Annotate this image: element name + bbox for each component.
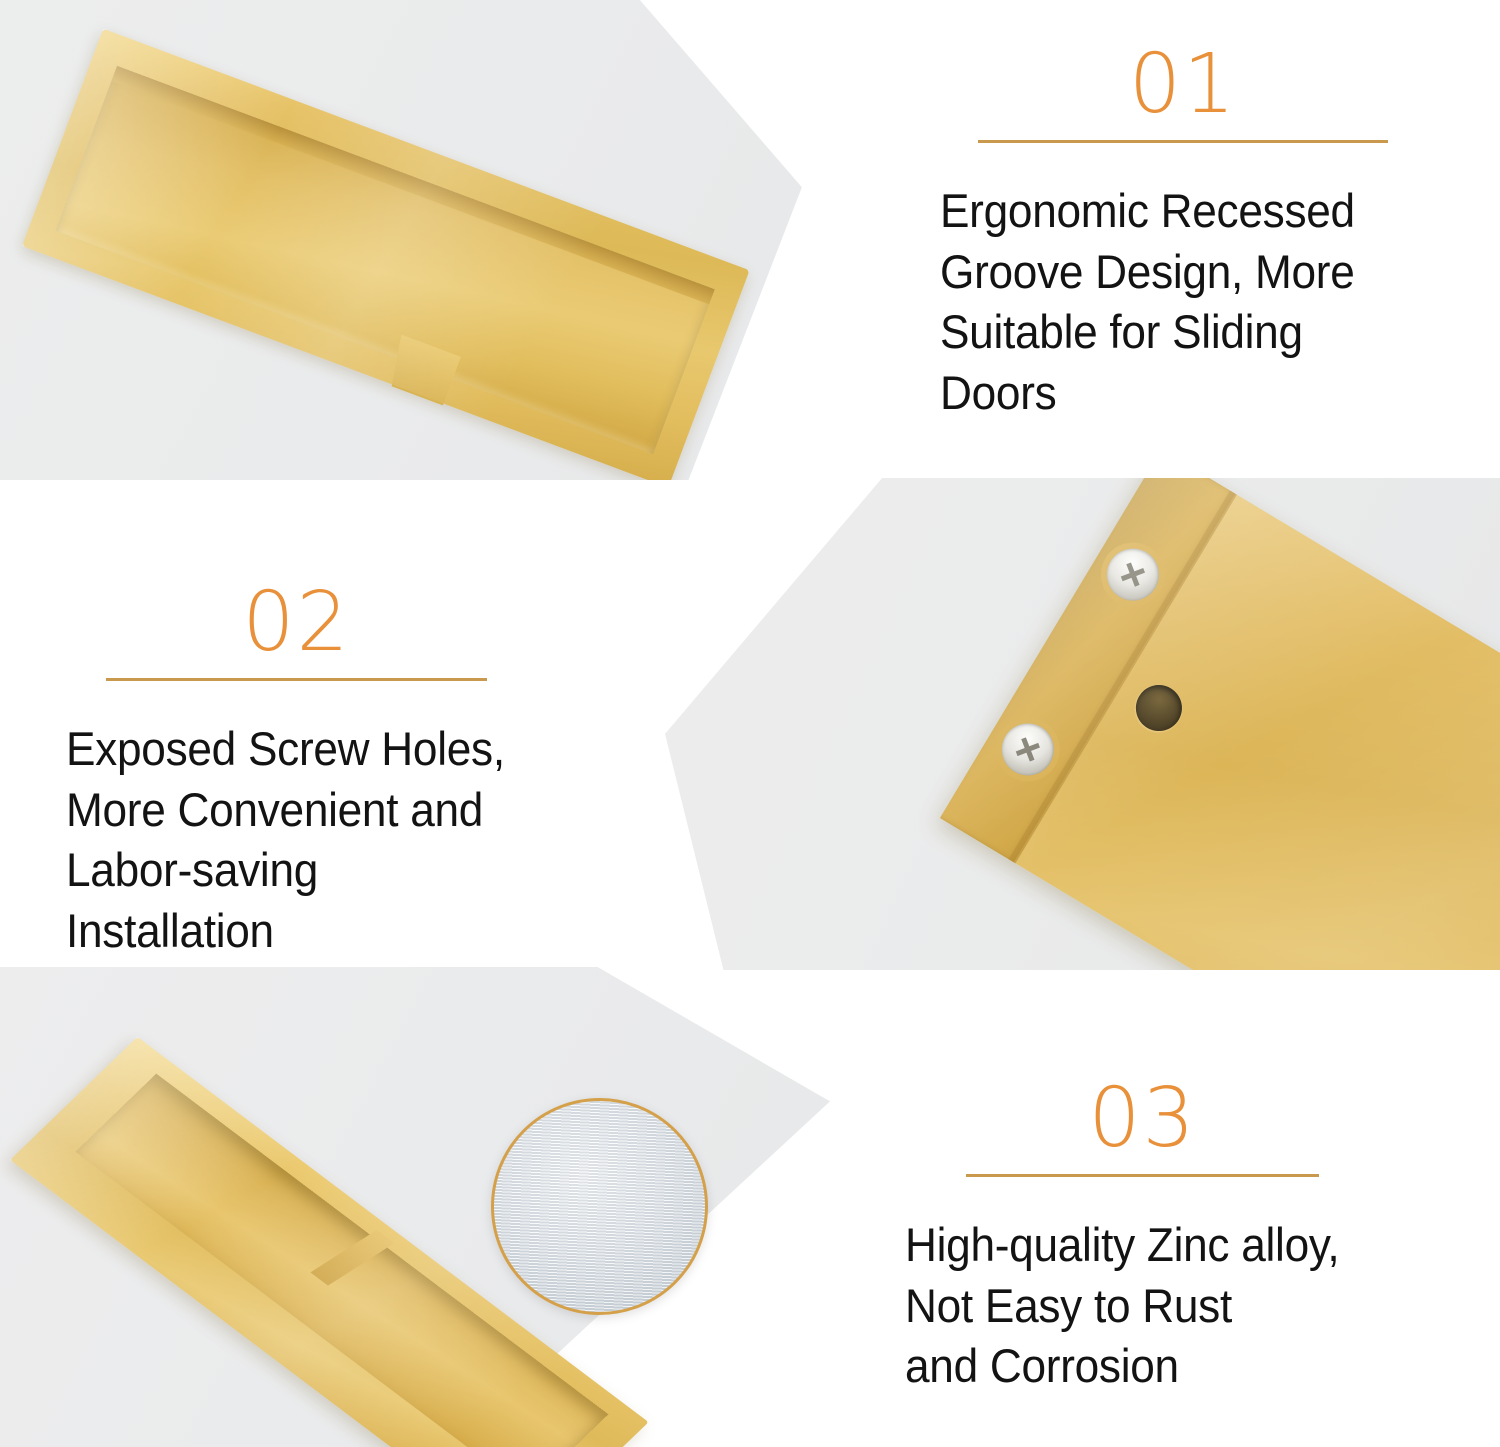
feature-block-01: 01 Ergonomic Recessed Groove Design, Mor…: [940, 44, 1410, 424]
feature-description-02: Exposed Screw Holes, More Convenient and…: [66, 719, 508, 962]
photo-panel-mid-right: [665, 478, 1500, 970]
feature-divider-rule: [106, 678, 487, 681]
feature-divider-rule: [978, 140, 1388, 143]
feature-block-02: 02 Exposed Screw Holes, More Convenient …: [66, 582, 536, 962]
feature-number-01: 01: [978, 44, 1388, 126]
photo-panel-bottom-left: [0, 967, 830, 1447]
feature-number-03: 03: [966, 1078, 1319, 1160]
product-feature-infographic: 01 Ergonomic Recessed Groove Design, Mor…: [0, 0, 1500, 1447]
feature-description-01: Ergonomic Recessed Groove Design, More S…: [940, 181, 1382, 424]
feature-divider-rule: [966, 1174, 1319, 1177]
photo-panel-top-left: [0, 0, 810, 480]
feature-number-02: 02: [106, 582, 487, 664]
brushed-metal-texture-callout: [491, 1098, 708, 1315]
feature-description-03: High-quality Zinc alloy, Not Easy to Rus…: [905, 1215, 1347, 1397]
feature-block-03: 03 High-quality Zinc alloy, Not Easy to …: [905, 1078, 1375, 1397]
